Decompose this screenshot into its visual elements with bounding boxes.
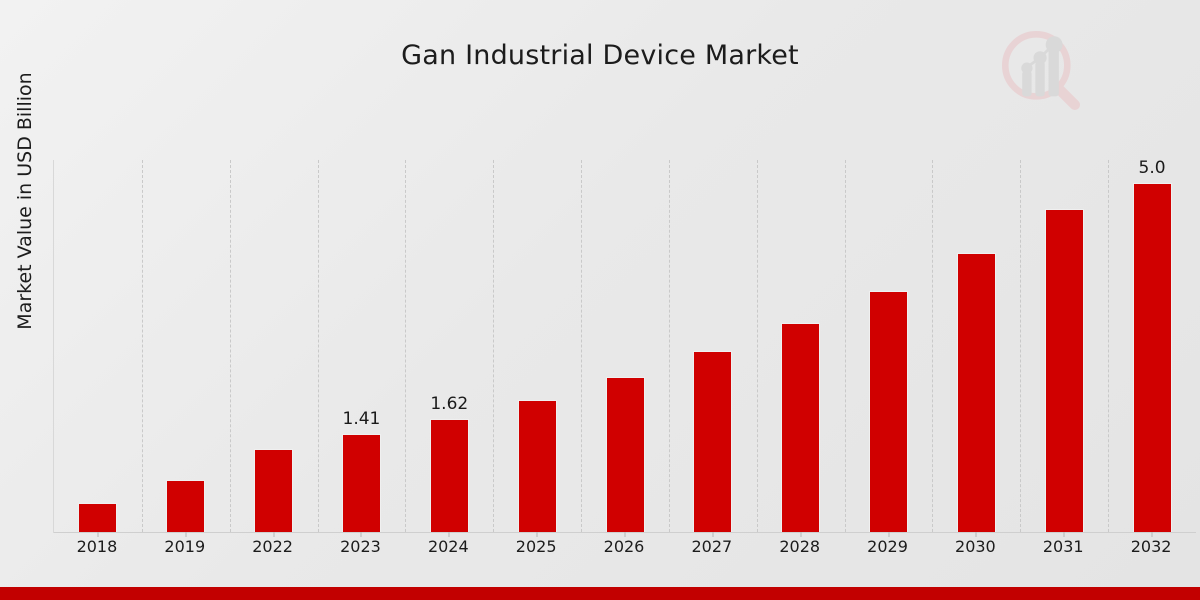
bar-rect-2018[interactable] bbox=[78, 503, 117, 532]
plot-area: 1.411.625.0 bbox=[53, 160, 1196, 533]
x-axis-label-2022: 2022 bbox=[252, 537, 293, 556]
bar-value-label-2024: 1.62 bbox=[430, 394, 468, 414]
bar-rect-2025[interactable] bbox=[518, 400, 557, 532]
x-axis-label-2028: 2028 bbox=[779, 537, 820, 556]
bar-rect-2023[interactable] bbox=[342, 434, 381, 532]
bar-value-label-2032: 5.0 bbox=[1139, 158, 1166, 178]
bar-2022[interactable] bbox=[254, 449, 293, 532]
x-axis-label-2018: 2018 bbox=[77, 537, 118, 556]
bar-2023[interactable]: 1.41 bbox=[342, 434, 381, 532]
x-axis-label-2025: 2025 bbox=[516, 537, 557, 556]
x-axis-label-2027: 2027 bbox=[691, 537, 732, 556]
bar-rect-2029[interactable] bbox=[869, 291, 908, 532]
bar-2027[interactable] bbox=[693, 351, 732, 532]
x-axis-label-2026: 2026 bbox=[604, 537, 645, 556]
x-axis-label-2019: 2019 bbox=[164, 537, 205, 556]
bar-rect-2024[interactable] bbox=[430, 419, 469, 532]
bar-rect-2027[interactable] bbox=[693, 351, 732, 532]
x-axis-label-2029: 2029 bbox=[867, 537, 908, 556]
bar-value-label-2023: 1.41 bbox=[343, 409, 381, 429]
x-axis-label-2023: 2023 bbox=[340, 537, 381, 556]
x-axis-label-2024: 2024 bbox=[428, 537, 469, 556]
bar-2025[interactable] bbox=[518, 400, 557, 532]
bar-2031[interactable] bbox=[1045, 209, 1084, 532]
x-axis-labels: 2018201920222023202420252026202720282029… bbox=[53, 537, 1195, 563]
x-axis-label-2030: 2030 bbox=[955, 537, 996, 556]
bar-rect-2028[interactable] bbox=[781, 323, 820, 532]
chart-page: Gan Industrial Device Market Market Valu… bbox=[0, 0, 1200, 600]
bar-2026[interactable] bbox=[606, 377, 645, 532]
bar-2019[interactable] bbox=[166, 480, 205, 532]
bar-2030[interactable] bbox=[957, 253, 996, 532]
bar-2028[interactable] bbox=[781, 323, 820, 532]
bar-rect-2026[interactable] bbox=[606, 377, 645, 532]
bar-2029[interactable] bbox=[869, 291, 908, 532]
bar-rect-2032[interactable] bbox=[1133, 183, 1172, 532]
bar-series: 1.411.625.0 bbox=[54, 160, 1196, 533]
footer-accent-bar bbox=[0, 587, 1200, 600]
bar-2018[interactable] bbox=[78, 503, 117, 532]
bar-rect-2031[interactable] bbox=[1045, 209, 1084, 532]
bar-rect-2022[interactable] bbox=[254, 449, 293, 532]
bar-2024[interactable]: 1.62 bbox=[430, 419, 469, 532]
y-axis-title: Market Value in USD Billion bbox=[14, 21, 36, 381]
x-axis-label-2032: 2032 bbox=[1131, 537, 1172, 556]
magnifier-bar-chart-logo bbox=[994, 24, 1088, 118]
bar-2032[interactable]: 5.0 bbox=[1133, 183, 1172, 532]
bar-rect-2019[interactable] bbox=[166, 480, 205, 532]
bar-rect-2030[interactable] bbox=[957, 253, 996, 532]
x-axis-label-2031: 2031 bbox=[1043, 537, 1084, 556]
